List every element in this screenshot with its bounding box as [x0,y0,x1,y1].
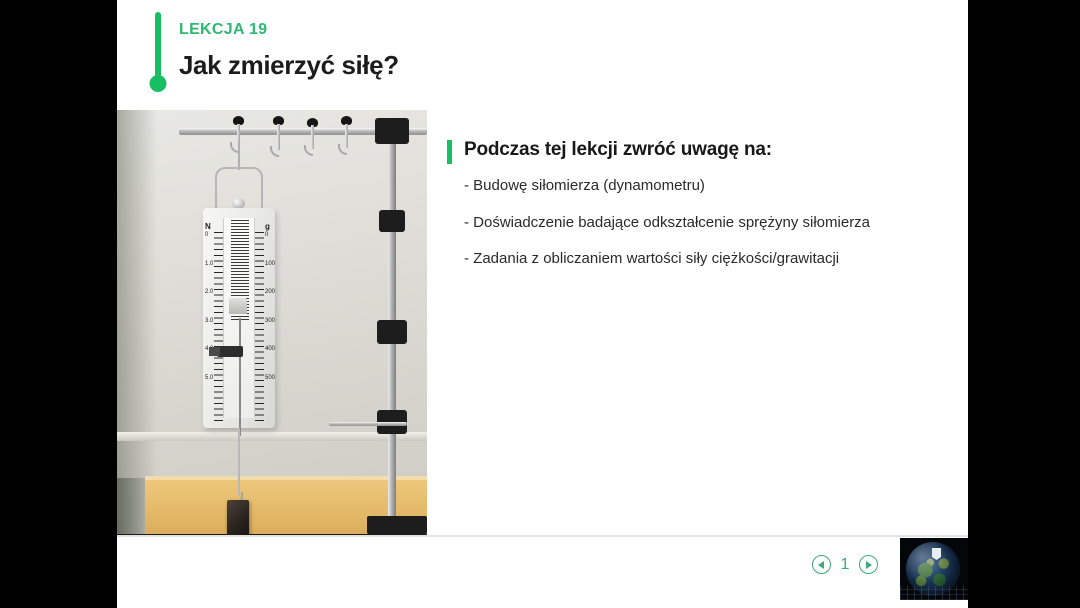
experiment-photo: N 0 1.0 2.0 3.0 4.0 5.0 g 0 100 200 300 … [117,110,427,535]
screen: LEKCJA 19 Jak zmierzyć siłę? [0,0,1080,608]
g-tick-2: 200 [265,289,275,295]
next-page-button[interactable] [859,555,878,574]
dynamometer-ticks-left [214,232,223,422]
dynamometer-window [223,218,255,418]
g-tick-1: 100 [265,261,275,267]
g-tick-3: 300 [265,318,275,324]
chevron-right-icon [866,561,872,569]
g-tick-4: 400 [265,346,275,352]
dynamometer-bottom-wire [238,428,240,496]
map-pin-icon [932,548,941,560]
dynamometer-scale-gram: g 0 100 200 300 400 500 [265,222,270,407]
chevron-left-icon [818,561,824,569]
prev-page-button[interactable] [812,555,831,574]
list-item: - Budowę siłomierza (dynamometru) [464,176,964,196]
globe-thumbnail[interactable] [900,538,968,600]
dynamometer-indicator [217,346,243,357]
scale-unit-gram: g [265,222,270,231]
stand-clamp-2 [379,210,405,232]
g-tick-0: 0 [265,232,268,238]
secondary-rod [329,422,407,426]
calibration-weight [229,298,247,314]
scale-unit-newton: N [205,222,211,231]
lesson-label: LEKCJA 19 [179,21,267,39]
pagination-controls: 1 [812,555,878,574]
stand-clamp-top [375,118,409,144]
page-title: Jak zmierzyć siłę? [179,50,399,81]
content-heading: Podczas tej lekcji zwróć uwagę na: [464,139,772,161]
hanging-weight [227,500,249,535]
dynamometer-scale-newton: N 0 1.0 2.0 3.0 4.0 5.0 [205,222,211,407]
n-tick-5: 5.0 [205,375,213,381]
list-item: - Zadania z obliczaniem wartości siły ci… [464,249,964,269]
list-item: - Doświadczenie badające odkształcenie s… [464,213,964,233]
dynamometer-indicator-secondary [209,347,220,356]
photo-wall-shadow [117,110,157,535]
objectives-list: - Budowę siłomierza (dynamometru) - Dośw… [464,176,964,286]
dynamometer-ticks-right [255,232,264,422]
n-tick-3: 3.0 [205,318,213,324]
n-tick-1: 1.0 [205,261,213,267]
content-accent-bar [447,140,452,164]
header-accent-bar [155,12,161,84]
n-tick-0: 0 [205,232,208,238]
g-tick-5: 500 [265,375,275,381]
thumbnail-grid-overlay [900,586,968,600]
slide-canvas: LEKCJA 19 Jak zmierzyć siłę? [117,0,968,608]
n-tick-2: 2.0 [205,289,213,295]
stand-base [367,516,427,534]
dynamometer-top-wire [238,140,240,170]
page-number: 1 [840,556,850,574]
dynamometer-body: N 0 1.0 2.0 3.0 4.0 5.0 g 0 100 200 300 … [203,208,275,428]
stand-clamp-3 [377,320,407,344]
dynamometer-spring-wire [239,318,241,436]
footer-divider [117,535,968,537]
